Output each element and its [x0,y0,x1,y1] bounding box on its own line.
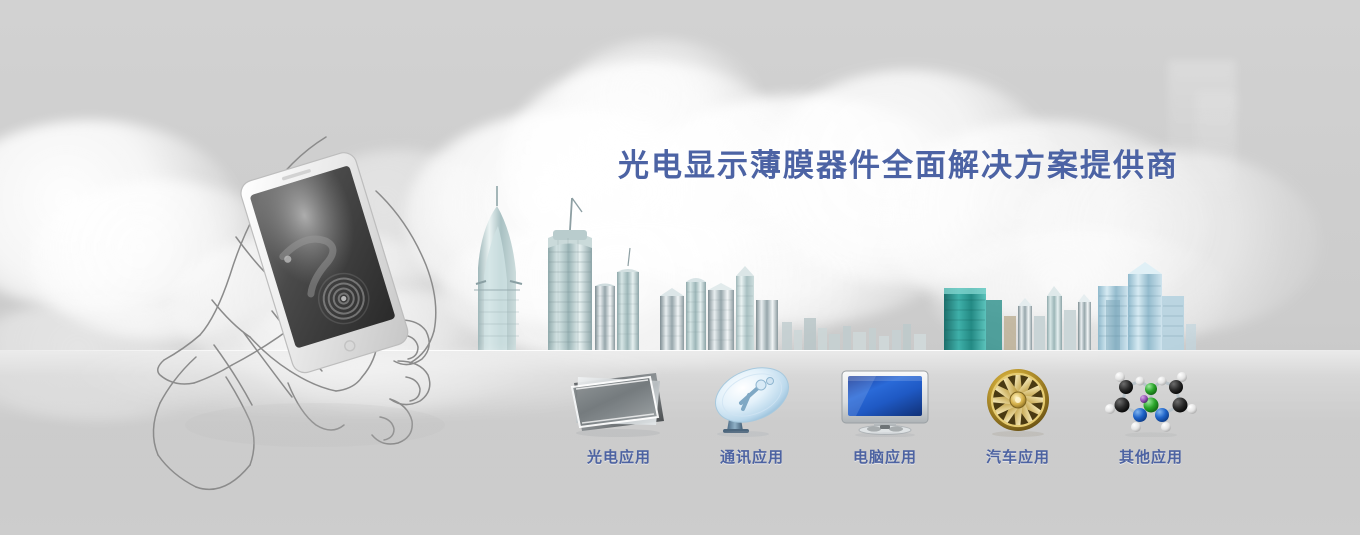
satellite-dish-icon [697,365,807,437]
blue-tower-cluster [1098,262,1196,350]
glass-block-cluster [660,266,778,350]
mid-tower-building-left [595,284,615,351]
application-label: 其他应用 [1119,446,1183,467]
application-item-other[interactable]: 其他应用 [1092,365,1210,467]
silver-spire-cluster [1018,286,1091,350]
application-item-communication[interactable]: 通讯应用 [693,365,811,467]
glass-film-panels-icon [564,365,674,437]
application-item-automotive[interactable]: 汽车应用 [959,365,1077,467]
main-tower-building [548,198,592,350]
application-label: 电脑应用 [853,446,917,467]
application-label: 通讯应用 [720,446,784,467]
molecule-atoms [1105,372,1197,432]
smartphone [238,149,411,375]
sail-tower-building [474,186,522,350]
page-title: 光电显示薄膜器件全面解决方案提供商 [618,140,1179,185]
alloy-wheel-icon [963,365,1073,437]
molecule-model-icon [1096,365,1206,437]
hero-banner: 光电显示薄膜器件全面解决方案提供商 [0,0,1360,535]
distant-buildings-cluster [782,318,926,350]
application-item-computer[interactable]: 电脑应用 [826,365,944,467]
application-label: 光电应用 [587,446,651,467]
application-label: 汽车应用 [986,446,1050,467]
computer-monitor-icon [830,365,940,437]
application-item-optoelectronic[interactable]: 光电应用 [560,365,678,467]
mid-tower-building-right [617,248,639,350]
teal-tower-building [944,288,1016,350]
hand-holding-phone-illustration [140,125,480,495]
application-icon-row: 光电应用 [560,352,1210,467]
